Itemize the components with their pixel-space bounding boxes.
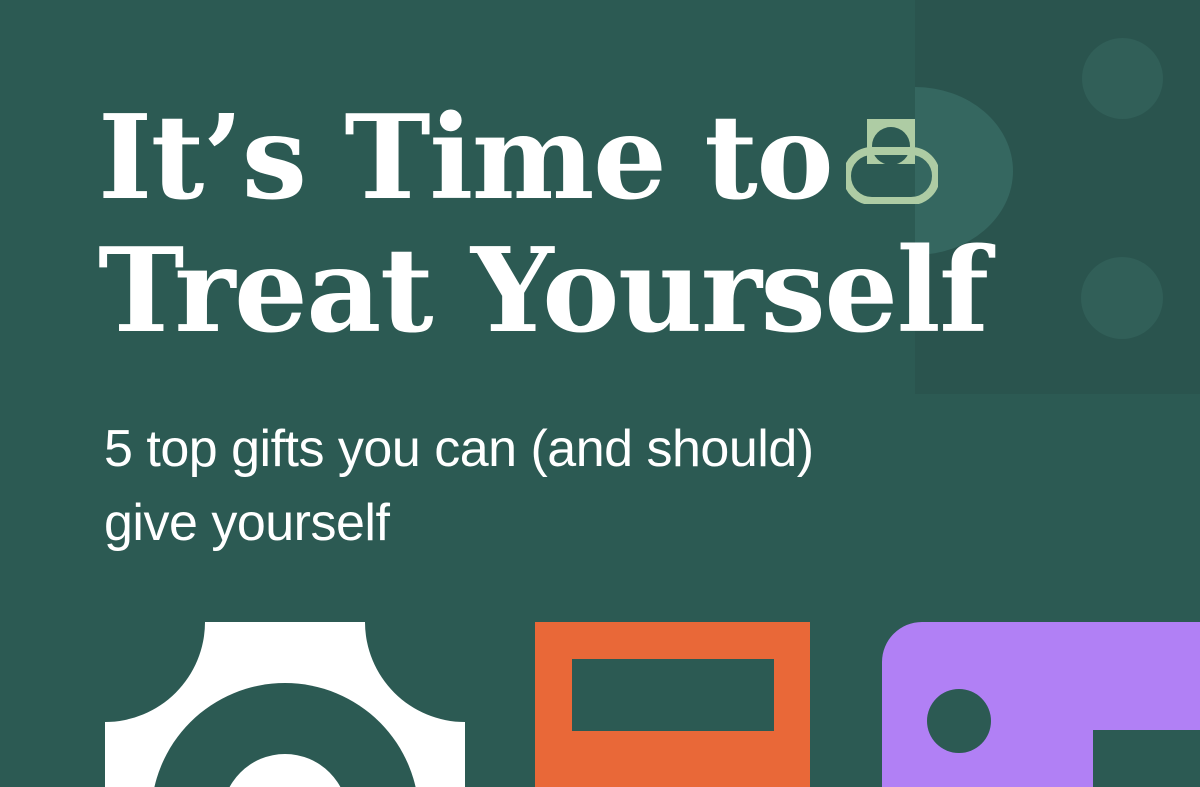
subhead-line-2: give yourself: [104, 486, 984, 560]
page-subtitle: 5 top gifts you can (and should) give yo…: [104, 412, 984, 560]
ticket-shape: [535, 622, 810, 787]
page-title: It’s Time to Treat Yourself: [98, 92, 1018, 358]
perfume-bottle-icon: [846, 98, 938, 184]
wallet-shape: [882, 622, 1200, 787]
background-dot-bottom: [1081, 257, 1163, 339]
headline-line-2: Treat Yourself: [98, 225, 1018, 358]
bottom-shape-row: [0, 622, 1200, 787]
background-dot-top: [1082, 38, 1163, 119]
subhead-line-1: 5 top gifts you can (and should): [104, 412, 984, 486]
camera-shape: [105, 622, 465, 787]
headline-text-1: It’s Time to: [98, 90, 832, 226]
promo-banner: It’s Time to Treat Yourself 5 top gifts …: [0, 0, 1200, 787]
headline-line-1: It’s Time to: [98, 92, 1018, 225]
